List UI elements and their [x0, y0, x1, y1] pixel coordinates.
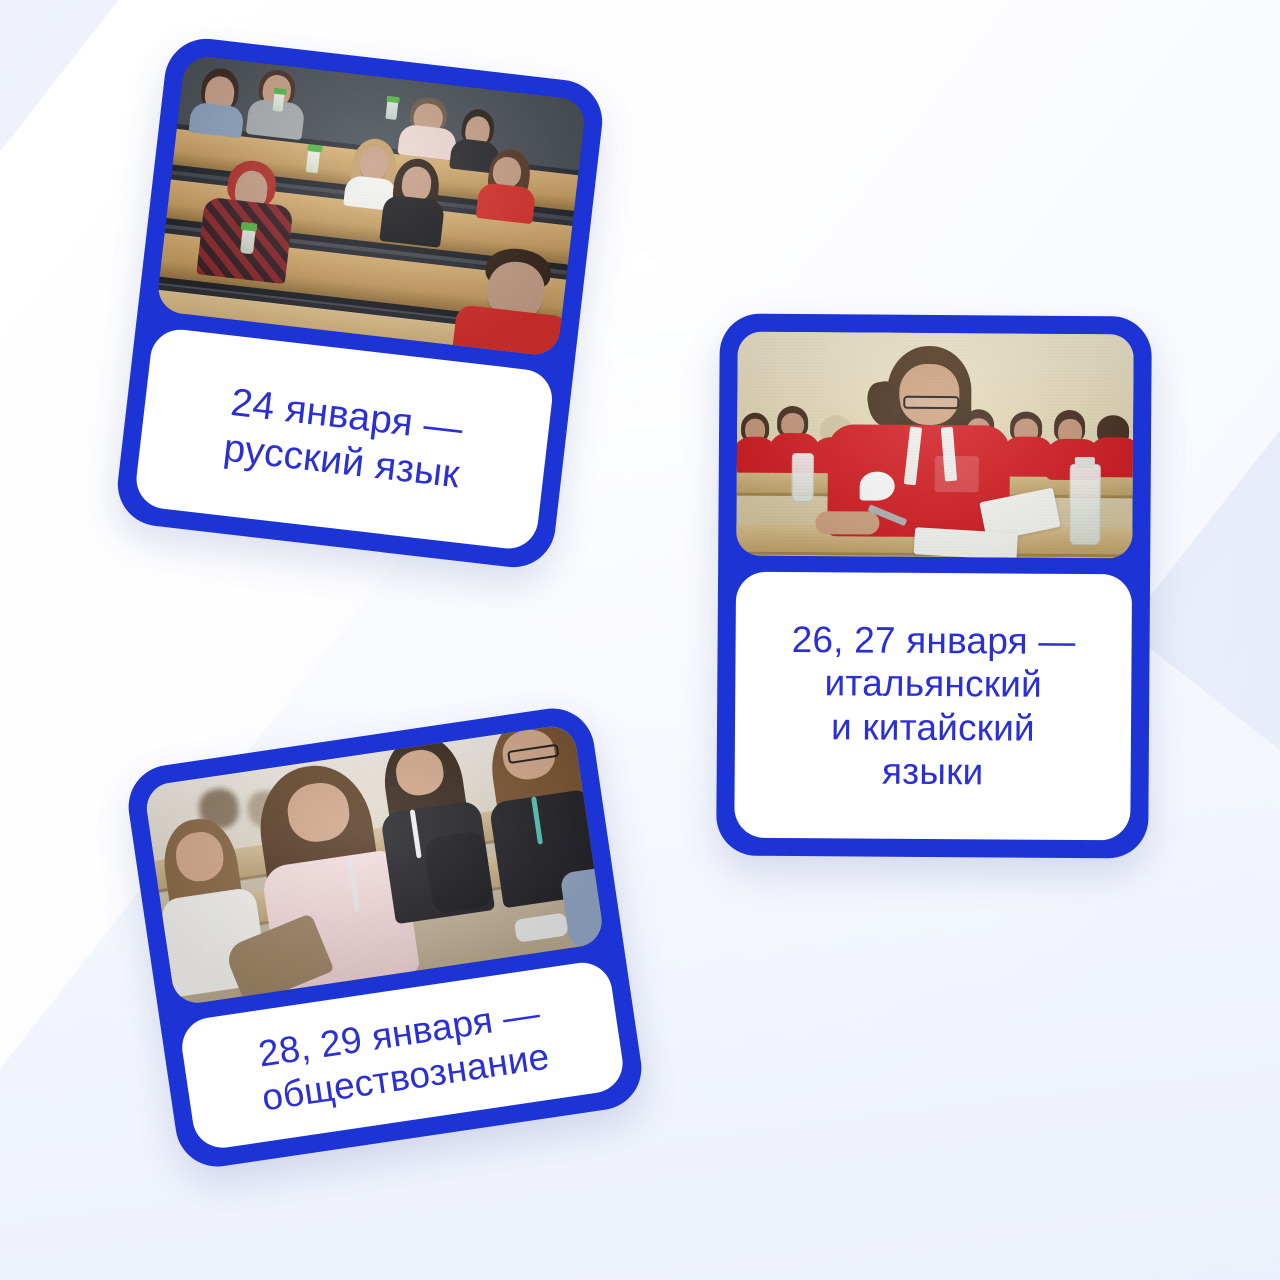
photo-students-on-steps — [143, 723, 605, 1006]
caption-text-languages: 26, 27 января — итальянский и китайский … — [791, 618, 1076, 795]
caption-panel-languages: 26, 27 января — итальянский и китайский … — [734, 572, 1132, 841]
caption-text-russian: 24 января — русский язык — [221, 380, 467, 499]
photo-lecture-hall — [156, 54, 587, 357]
card-russian-language[interactable]: 24 января — русский язык — [113, 34, 606, 571]
card-italian-chinese-languages[interactable]: 26, 27 января — итальянский и китайский … — [716, 313, 1152, 858]
caption-text-social: 28, 29 января — обществознание — [253, 991, 552, 1120]
poster-canvas: 24 января — русский язык — [0, 0, 1280, 1280]
card-social-studies[interactable]: 28, 29 января — обществознание — [123, 703, 647, 1172]
photo-exam-red-shirts — [736, 332, 1134, 559]
caption-panel-russian: 24 января — русский язык — [133, 326, 555, 551]
